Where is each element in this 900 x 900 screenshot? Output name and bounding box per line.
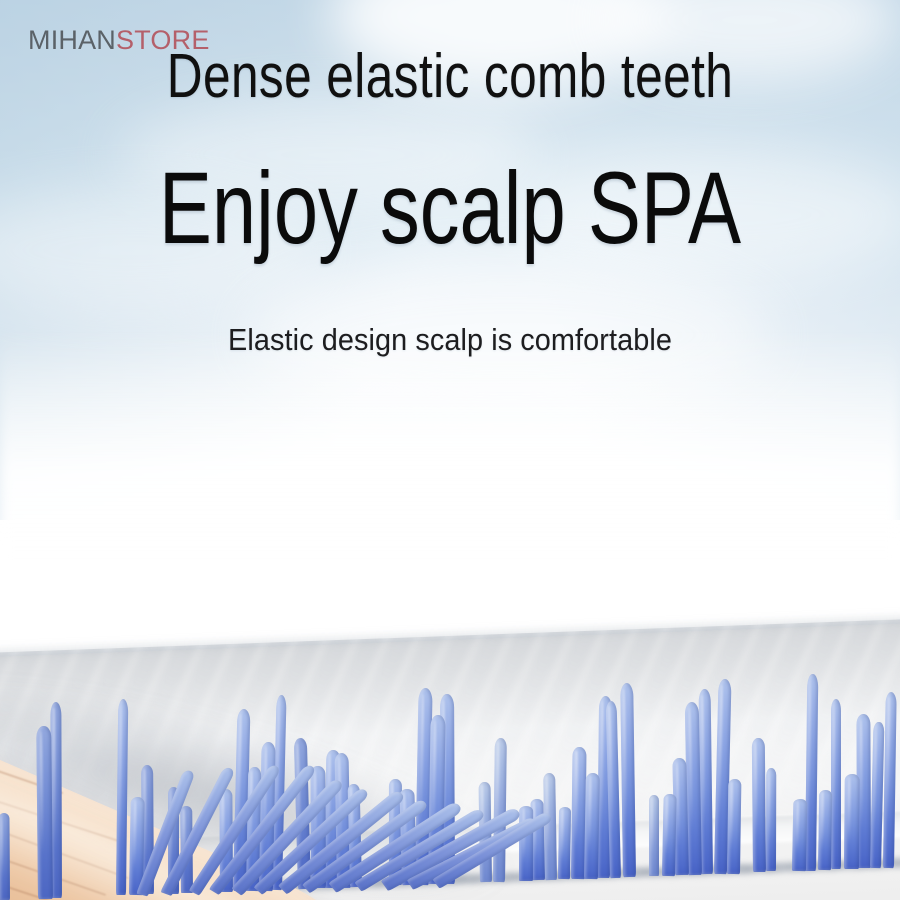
comb-bristle [792,799,808,871]
comb-bristle [727,778,741,873]
comb-bristle [662,793,676,875]
headline-secondary: Enjoy scalp SPA [99,157,801,259]
comb-bristle [0,813,10,900]
comb-bristle [805,674,818,871]
comb-bristle [493,737,507,881]
headline-primary: Dense elastic comb teeth [90,46,810,108]
comb-bristle [36,726,52,899]
comb-bristle [831,699,841,869]
comb-bristle [543,773,557,880]
comb-bristle [584,773,600,879]
comb-bristle [752,738,766,872]
comb-bristle [649,795,659,876]
comb-bristle [818,790,832,870]
comb-product-photo [0,430,900,900]
product-advertisement-image: MIHANSTORE Dense elastic comb teeth Enjo… [0,0,900,900]
subheading: Elastic design scalp is comfortable [32,324,869,355]
comb-bristle [766,768,776,871]
comb-bristle [558,807,571,879]
comb-bristle [844,774,860,869]
